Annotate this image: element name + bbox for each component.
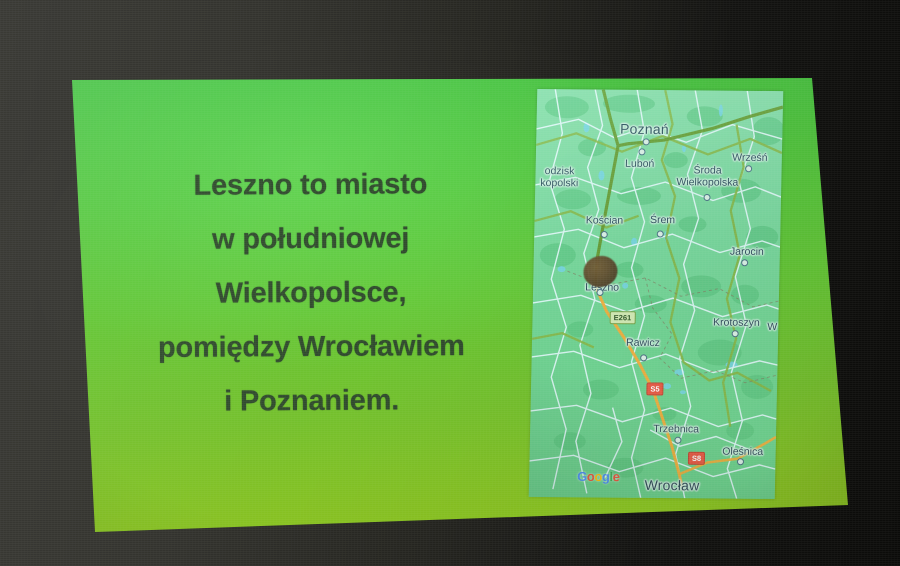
projection-screen-slide: Leszno to miasto w południowej Wielkopol… <box>0 0 900 566</box>
projected-slide-photo: Leszno to miasto w południowej Wielkopol… <box>0 0 900 566</box>
slide-text-line-5: i Poznaniem. <box>96 373 526 430</box>
slide-text-line-3: Wielkopolsce, <box>96 265 526 322</box>
google-logo-letter-g1: G <box>577 469 587 484</box>
slide-text-block: Leszno to miasto w południowej Wielkopol… <box>95 157 527 430</box>
map-city-label: Luboń <box>625 158 654 170</box>
map-city-label: Wrocław <box>644 477 699 493</box>
map-city-label: Wrześń <box>732 152 768 164</box>
map-city-label: kopolski <box>540 177 578 189</box>
map-city-label: Oleśnica <box>722 446 763 458</box>
slide-text-line-4: pomiędzy Wrocławiem <box>96 319 526 376</box>
map-road-shield-icon: E261 <box>610 311 636 324</box>
slide-text-line-1: Leszno to miasto <box>95 157 525 214</box>
map-road-shield-icon: S8 <box>688 452 705 465</box>
map-city-label: Jarocin <box>730 246 764 258</box>
google-logo-letter-e: e <box>613 469 620 484</box>
map-city-label: Rawicz <box>626 337 660 349</box>
map-city-label: Śrem <box>650 214 675 226</box>
google-map-image: PoznańLubońWrześńŚrodaWielkopolskaodzisk… <box>529 89 784 499</box>
map-city-label: Krotoszyn <box>713 316 760 328</box>
google-logo-watermark: Google <box>577 469 620 484</box>
map-city-label: Kościan <box>586 214 624 226</box>
map-city-label: Środa <box>693 164 721 176</box>
map-city-label: Wielkopolska <box>676 176 738 189</box>
map-city-label: W <box>767 321 777 333</box>
map-city-label: odzisk <box>545 165 575 177</box>
map-city-label: Poznań <box>620 121 669 137</box>
slide-text-line-2: w południowej <box>96 211 526 268</box>
map-road-shield-icon: S5 <box>646 382 663 395</box>
map-city-label: Trzebnica <box>653 423 699 435</box>
map-vector-layer <box>529 89 784 499</box>
